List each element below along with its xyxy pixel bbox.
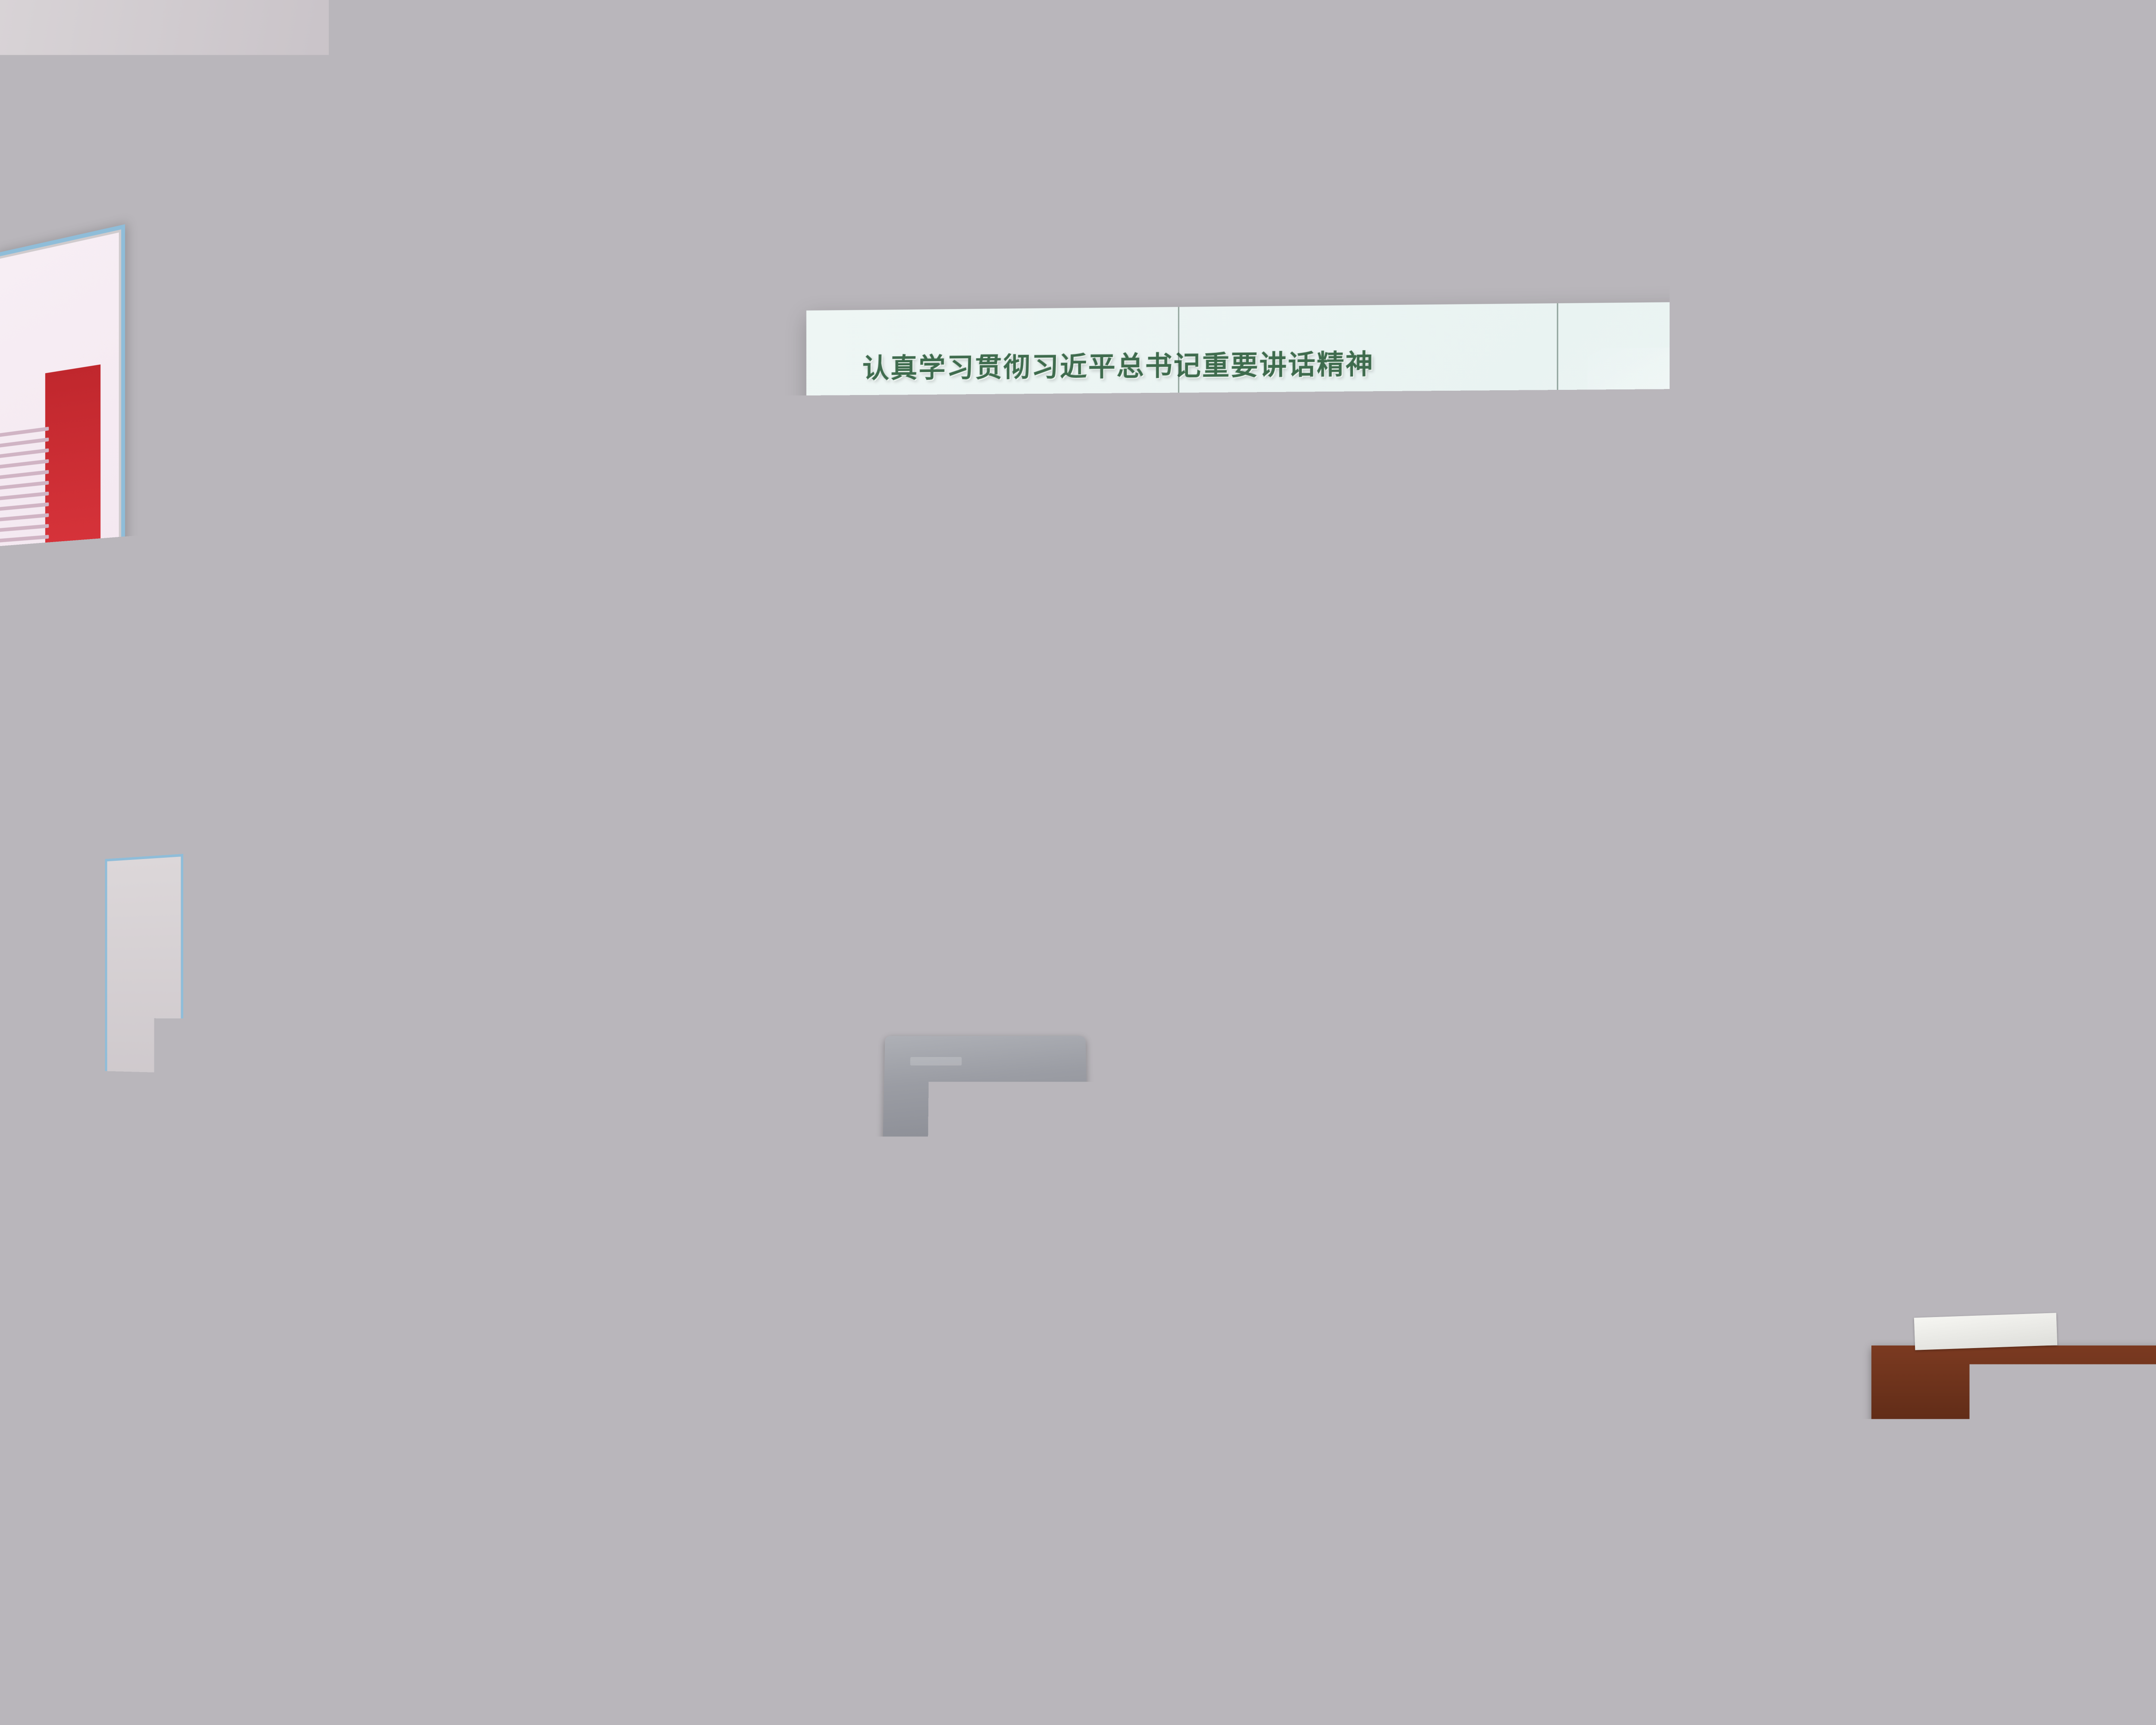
slide-headline-2: 确保广大人民群众生命财产安全 (1450, 445, 2115, 514)
slide-right-line-2: 关于安全生产工作 (1864, 636, 2156, 699)
presenter-documents (1116, 1114, 1260, 1149)
hair-tie (1492, 1173, 1531, 1203)
slide-watermark-tiananmen (871, 437, 1264, 621)
left-panel-text-lines (0, 427, 49, 561)
audience-person-center (690, 1104, 1121, 1725)
video-wall-bezel-vertical (1943, 300, 1945, 1063)
tiananmen-illustration (443, 692, 605, 792)
banner-big-character: 新 (430, 344, 478, 395)
laptop-logo (910, 1057, 962, 1066)
slide-eyebrow-text: 认真学习贯彻习近平总书记重要讲话精神 (862, 342, 1374, 386)
banner-gold-ring-ornament (459, 515, 534, 599)
face-mask-icon (957, 1246, 1013, 1324)
audience-papers (1155, 1305, 1290, 1339)
banner-paragraph: 今年最新出台的安全生产条例进行宣讲解读，让全体广大党员干部学习了解最新上级精神，… (433, 405, 606, 478)
banner-subtitle: 党/员/先/锋/岗 (496, 363, 579, 379)
slide-right-line-1: 习近平总书记 (1864, 574, 2156, 637)
cabinet-door-right[interactable] (456, 1048, 622, 1307)
red-poster-heading: 坚定理想信念 增进党员群众意识 (423, 160, 616, 173)
left-panel-caption: 意识 (0, 1052, 44, 1110)
eyeglasses-icon (1086, 931, 1125, 950)
left-wall-lightbox-panel (88, 241, 151, 845)
audience-person-woman (1276, 1182, 1733, 1725)
eyeglasses-icon (1133, 931, 1173, 950)
red-poster-body: 坚决贯彻落实党中央决策部署，把安全生产工作，摆在更加突出的位置，坚持生命至上、安… (411, 188, 612, 246)
microphone-status-led (961, 906, 966, 911)
left-panel-illustration (0, 773, 71, 831)
audience-person-right (1699, 975, 2096, 1578)
microphone-icon (1407, 1000, 1431, 1060)
microphone-icon (1323, 1000, 1346, 1060)
red-banner-card: 新 党/员/先/锋/岗 今年最新出台的安全生产条例进行宣讲解读，让全体广大党员干… (419, 319, 614, 875)
wall-banner-left-text: 学习贯彻党的十九大精神 (875, 168, 1568, 253)
slide-right-text-block: 习近平总书记 关于安全生产工作 论述摘编 (1864, 574, 2156, 761)
party-emblem-badge (1169, 1087, 1181, 1099)
conference-room-photo: 意识 坚定理想信念 增进党员群众意识 坚决贯彻落实党中央决策部署，把安全生产工作… (0, 0, 2156, 1725)
red-vertical-banner: 新 党/员/先/锋/岗 今年最新出台的安全生产条例进行宣讲解读，让全体广大党员干… (397, 298, 621, 927)
microphone-icon (1492, 1001, 1515, 1060)
slide-right-line-3: 论述摘编 (1864, 698, 2156, 761)
cabinet-handle-right[interactable] (463, 1138, 469, 1194)
video-wall-bezel-vertical (1557, 303, 1558, 1060)
wall-banner-right-text: 全面建设中国特色社会主义 (1673, 160, 2156, 248)
